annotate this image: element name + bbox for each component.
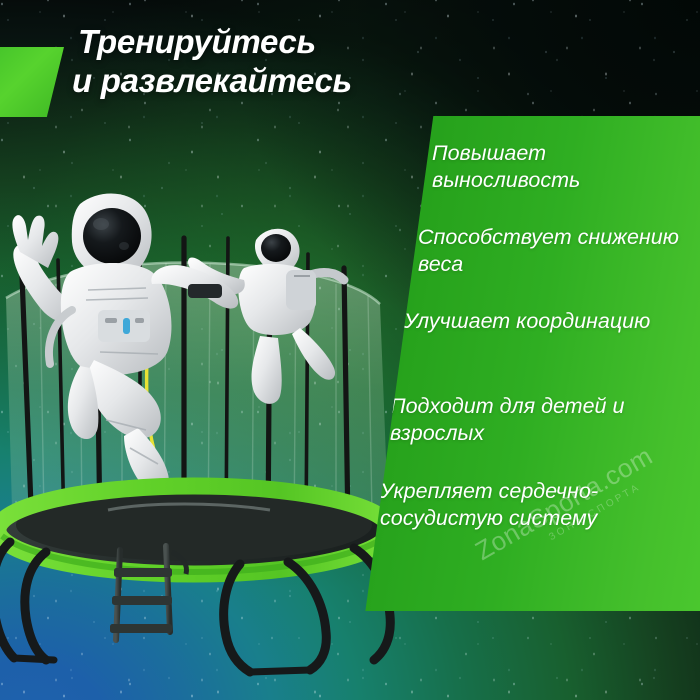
title-line-2: и развлекайтесь — [72, 61, 408, 100]
trampoline-astronauts-illustration — [0, 180, 408, 680]
benefit-label: Укрепляет сердечно-сосудистую систему — [380, 478, 698, 532]
list-item[interactable]: Повышает выносливость — [400, 140, 680, 194]
list-item[interactable]: Способствует снижению веса — [386, 224, 686, 278]
trampoline-bed — [0, 486, 390, 574]
page-title: Тренируйтесь и развлекайтесь — [78, 22, 408, 100]
list-item[interactable]: Подходит для детей и взрослых — [358, 393, 698, 447]
list-item[interactable]: Укрепляет сердечно-сосудистую систему — [350, 478, 698, 532]
promo-banner: Тренируйтесь и развлекайтесь — [0, 0, 700, 700]
benefit-label: Улучшает координацию — [404, 308, 650, 335]
title-line-1: Тренируйтесь — [78, 22, 408, 61]
leg-braces — [14, 658, 310, 672]
list-item[interactable]: Улучшает координацию — [372, 308, 682, 335]
benefit-label: Повышает выносливость — [432, 140, 680, 194]
benefit-label: Способствует снижению веса — [418, 224, 686, 278]
benefit-label: Подходит для детей и взрослых — [390, 393, 698, 447]
